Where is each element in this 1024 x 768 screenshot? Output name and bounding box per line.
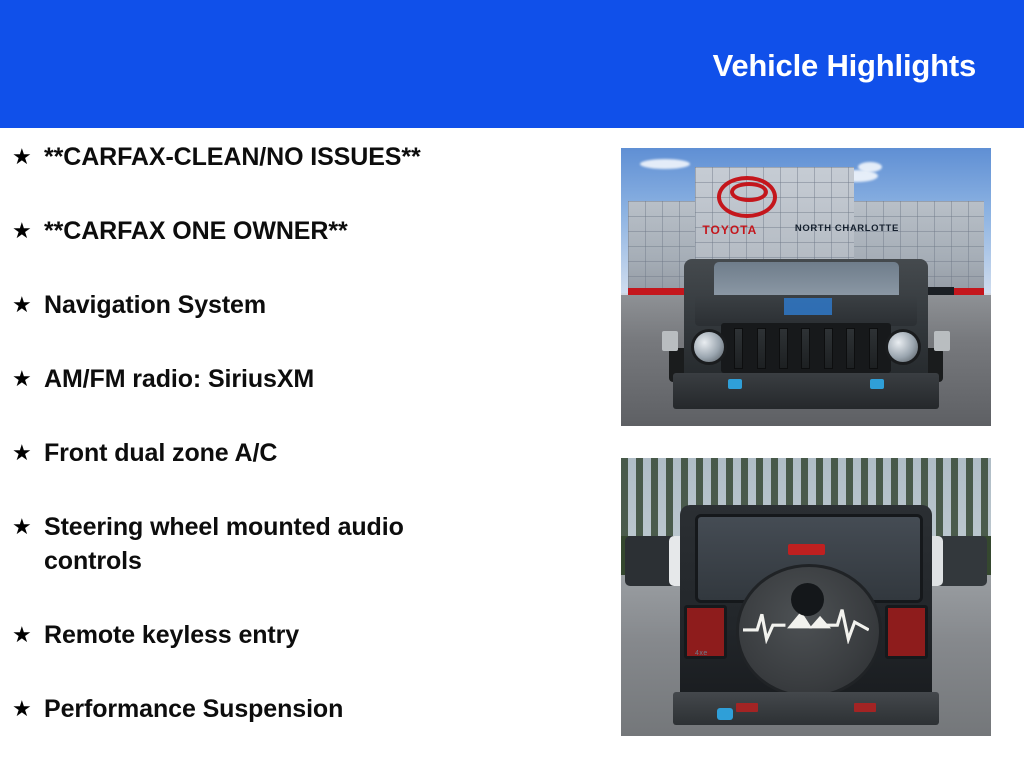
highlight-label: Performance Suspension (44, 692, 499, 726)
star-bullet-icon: ★ (12, 510, 44, 544)
grille-slot (779, 328, 788, 369)
vehicle-photo-column: TOYOTA NORTH CHARLOTTE (621, 148, 991, 736)
star-bullet-icon: ★ (12, 140, 44, 174)
star-bullet-icon: ★ (12, 692, 44, 726)
highlight-item-carfax-one-owner: ★ **CARFAX ONE OWNER** (0, 214, 600, 248)
third-brake-light (788, 544, 825, 555)
star-bullet-icon: ★ (12, 436, 44, 470)
blue-hood-accent (784, 298, 832, 315)
right-headlight (885, 329, 921, 365)
grille-slot (757, 328, 766, 369)
star-bullet-icon: ★ (12, 214, 44, 248)
page-title: Vehicle Highlights (713, 50, 976, 81)
dealer-location-text: NORTH CHARLOTTE (795, 223, 899, 234)
highlight-label: Remote keyless entry (44, 618, 499, 652)
highlight-item-am-fm-radio: ★ AM/FM radio: SiriusXM (0, 362, 600, 396)
grille-slot (824, 328, 833, 369)
highlight-label: AM/FM radio: SiriusXM (44, 362, 499, 396)
highlight-label: **CARFAX ONE OWNER** (44, 214, 499, 248)
star-bullet-icon: ★ (12, 362, 44, 396)
vehicle-rear-view-photo: 4xe (621, 458, 991, 736)
left-headlight (691, 329, 727, 365)
vehicle-highlights-list: ★ **CARFAX-CLEAN/NO ISSUES** ★ **CARFAX … (0, 128, 600, 726)
highlight-item-steering-wheel-audio-controls: ★ Steering wheel mounted audio controls (0, 510, 600, 578)
content-area: ★ **CARFAX-CLEAN/NO ISSUES** ★ **CARFAX … (0, 128, 1024, 768)
rear-tow-hook (717, 708, 733, 720)
left-turn-signal (662, 331, 678, 351)
right-tow-hook (870, 379, 884, 389)
toyota-logo-icon (717, 176, 777, 218)
highlight-item-front-dual-zone-ac: ★ Front dual zone A/C (0, 436, 600, 470)
highlight-label: Front dual zone A/C (44, 436, 499, 470)
rear-bumper (673, 692, 939, 725)
header-banner: Vehicle Highlights (0, 0, 1024, 128)
right-taillight (885, 605, 928, 658)
highlight-item-remote-keyless-entry: ★ Remote keyless entry (0, 618, 600, 652)
star-bullet-icon: ★ (12, 288, 44, 322)
cloud-shape (640, 159, 690, 169)
highlight-label: **CARFAX-CLEAN/NO ISSUES** (44, 140, 499, 174)
front-bumper (673, 373, 939, 409)
right-turn-signal (934, 331, 950, 351)
highlight-label: Steering wheel mounted audio controls (44, 510, 499, 578)
star-bullet-icon: ★ (12, 618, 44, 652)
right-rear-reflector (854, 703, 876, 713)
left-tow-hook (728, 379, 742, 389)
highlight-label: Navigation System (44, 288, 499, 322)
highlight-item-performance-suspension: ★ Performance Suspension (0, 692, 600, 726)
cloud-shape (858, 162, 882, 172)
grille-slot (869, 328, 878, 369)
seven-slot-grille (721, 323, 891, 373)
windshield (714, 262, 899, 295)
grille-slot (801, 328, 810, 369)
dealer-brand-text: TOYOTA (702, 223, 757, 237)
left-rear-reflector (736, 703, 758, 713)
grille-slot (846, 328, 855, 369)
vehicle-front-view-photo: TOYOTA NORTH CHARLOTTE (621, 148, 991, 426)
model-badge: 4xe (695, 650, 708, 657)
grille-slot (734, 328, 743, 369)
highlight-item-carfax-clean: ★ **CARFAX-CLEAN/NO ISSUES** (0, 140, 600, 174)
highlight-item-navigation-system: ★ Navigation System (0, 288, 600, 322)
